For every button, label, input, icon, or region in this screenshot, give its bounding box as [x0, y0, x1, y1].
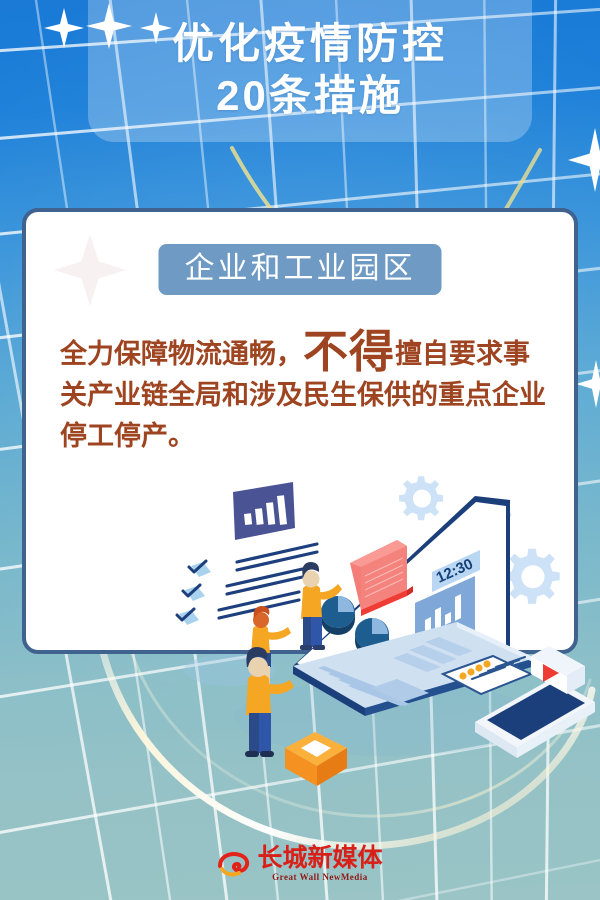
- poster-root: 优化疫情防控 20条措施 企业和工业园区 全力保障物流通畅，不得擅自要求事关产业…: [0, 0, 600, 900]
- header-title-line-1: 优化疫情防控: [172, 19, 448, 69]
- bar-chart-card: [233, 482, 295, 540]
- card-body-text: 全力保障物流通畅，不得擅自要求事关产业链全局和涉及民生保供的重点企业停工停产。: [60, 334, 550, 457]
- card-body-part-1: 全力保障物流通畅，: [60, 339, 303, 369]
- gear-icon: [399, 476, 443, 520]
- header-title-line-2: 20条措施: [216, 71, 404, 121]
- footer-logo-text-en: Great Wall NewMedia: [272, 872, 368, 882]
- card-body-emphasis: 不得: [303, 326, 395, 377]
- gear-icon: [505, 549, 560, 604]
- laptop: 12:30: [293, 496, 535, 716]
- card-body: 全力保障物流通畅，不得擅自要求事关产业链全局和涉及民生保供的重点企业停工停产。: [60, 334, 550, 457]
- isometric-office-illustration: 12:30: [175, 470, 595, 800]
- checklist: [177, 544, 317, 625]
- star-watermark-icon: [54, 234, 126, 306]
- header-panel: 优化疫情防控 20条措施: [88, 0, 532, 142]
- footer-logo: 长城新媒体 Great Wall NewMedia: [0, 846, 600, 882]
- pie-chart: [321, 596, 355, 635]
- footer-logo-text-cn: 长城新媒体: [257, 846, 382, 871]
- card-category-badge: 企业和工业园区: [159, 244, 442, 295]
- swoosh-logo-icon: [217, 850, 251, 878]
- card-category-label: 企业和工业园区: [185, 252, 416, 285]
